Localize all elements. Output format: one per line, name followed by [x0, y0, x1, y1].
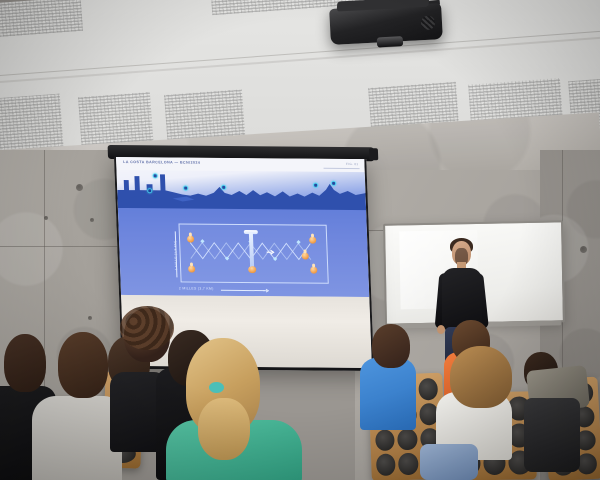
- buoy-marker: [313, 183, 318, 188]
- slide-meta: FIG. 01: [346, 162, 359, 166]
- buoy-marker: [301, 250, 310, 260]
- buoy-marker: [147, 188, 152, 193]
- diagram-x-axis-label: 2 MILLES (3,7 KM): [179, 286, 214, 290]
- student-blue-shirt-head: [372, 324, 410, 368]
- projected-slide: LA COSTA BARCELONA — BCN/2024 FIG. 01: [116, 157, 369, 297]
- slide-title: LA COSTA BARCELONA — BCN/2024: [123, 160, 200, 165]
- student-blue-shirt-body: [360, 358, 416, 430]
- hair-scrunchie: [209, 382, 224, 393]
- buoy-marker: [331, 181, 336, 186]
- buoy-marker: [309, 264, 318, 274]
- student-front-blonde-ponytail: [198, 398, 250, 460]
- acoustic-panel: [0, 0, 83, 40]
- student-left-edge-head: [4, 334, 46, 392]
- diagram-y-axis-label: 1 MILLE (1,8 KM): [173, 240, 178, 270]
- buoy-marker: [186, 233, 195, 243]
- presenter-hand-left: [437, 325, 445, 334]
- diagram-x-axis: 2 MILLES (3,7 KM): [179, 285, 269, 294]
- projector-vent: [421, 15, 436, 30]
- axis-arrow-icon: [263, 288, 269, 293]
- direction-arrow-icon: [266, 249, 274, 255]
- buoy-marker: [221, 185, 226, 190]
- student-left-grey-head: [58, 332, 108, 398]
- backpack: [524, 398, 580, 472]
- diagram-y-axis: 1 MILLE (1,8 KM): [171, 231, 181, 279]
- route-diagram: [178, 223, 328, 283]
- student-white-shirt-head: [450, 346, 512, 408]
- student-curly-hair-texture: [120, 306, 174, 350]
- student-left-grey-body: [32, 396, 122, 480]
- buoy-marker: [153, 173, 158, 178]
- buoy-marker: [183, 186, 188, 191]
- classroom-scene: LA COSTA BARCELONA — BCN/2024 FIG. 01: [0, 0, 600, 480]
- buoy-marker: [308, 234, 317, 244]
- buoy-marker: [187, 263, 196, 273]
- projector-lens: [377, 36, 403, 47]
- ceiling-mounted-projector: [329, 3, 443, 45]
- offshore-platform-base: [248, 265, 257, 274]
- student-white-shirt-shorts: [420, 444, 478, 480]
